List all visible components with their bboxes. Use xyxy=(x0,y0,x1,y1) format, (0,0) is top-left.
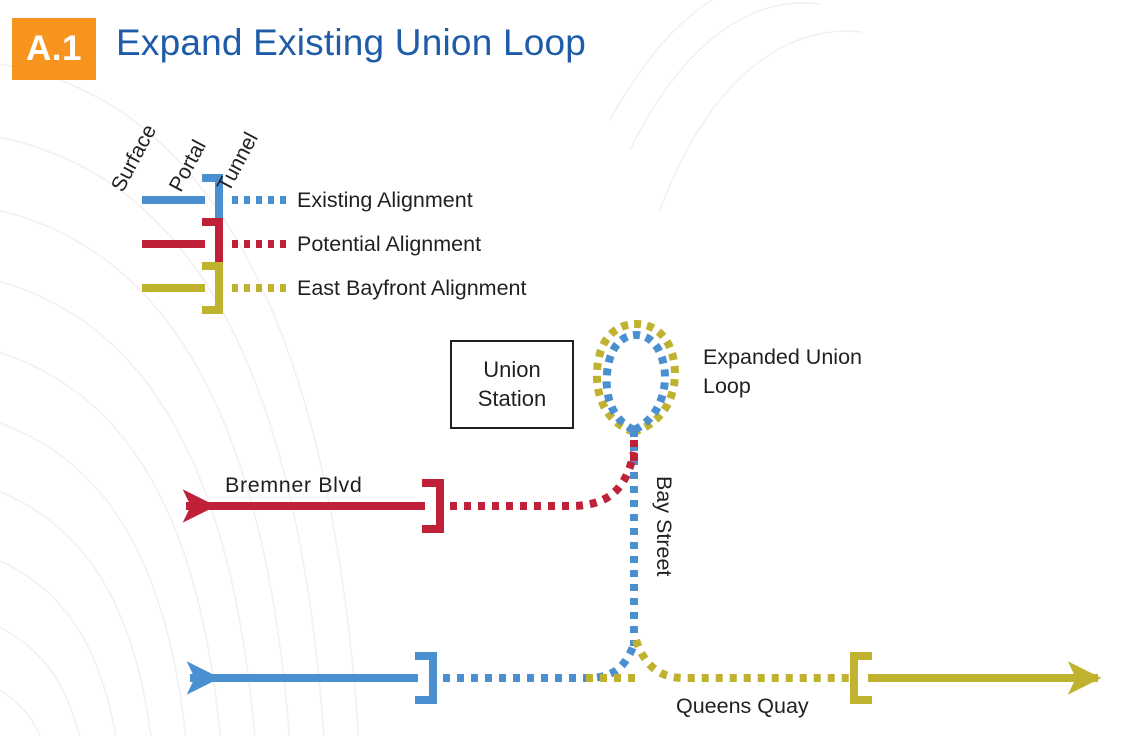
expanded-union-loop-label: Expanded Union Loop xyxy=(703,343,862,401)
legend-swatch-potential xyxy=(142,222,288,266)
street-label-queens-quay: Queens Quay xyxy=(676,694,809,719)
union-loop-blue xyxy=(607,335,665,430)
union-station-line2: Station xyxy=(478,385,547,413)
legend-swatch-east-bayfront xyxy=(142,266,288,310)
legend-label-potential: Potential Alignment xyxy=(297,232,481,257)
union-station-box: Union Station xyxy=(450,340,574,429)
section-badge-label: A.1 xyxy=(26,29,82,69)
expanded-union-loop-line2: Loop xyxy=(703,372,862,401)
union-station-line1: Union xyxy=(483,356,540,384)
street-label-bay-street: Bay Street xyxy=(651,476,676,576)
diagram-canvas: A.1 Expand Existing Union Loop Surface P… xyxy=(0,0,1136,736)
union-loop-olive xyxy=(597,324,675,432)
legend-header-surface: Surface xyxy=(107,121,162,196)
section-badge: A.1 xyxy=(12,18,96,80)
queens-quay-olive-line xyxy=(586,640,1098,700)
queens-quay-blue-line xyxy=(190,644,634,700)
legend-header-tunnel: Tunnel xyxy=(213,129,264,196)
legend-header-portal: Portal xyxy=(165,136,212,196)
legend-label-east-bayfront: East Bayfront Alignment xyxy=(297,276,526,301)
expanded-union-loop-line1: Expanded Union xyxy=(703,343,862,372)
street-label-bremner-blvd: Bremner Blvd xyxy=(225,473,362,498)
page-title: Expand Existing Union Loop xyxy=(116,22,586,64)
legend-label-existing: Existing Alignment xyxy=(297,188,473,213)
